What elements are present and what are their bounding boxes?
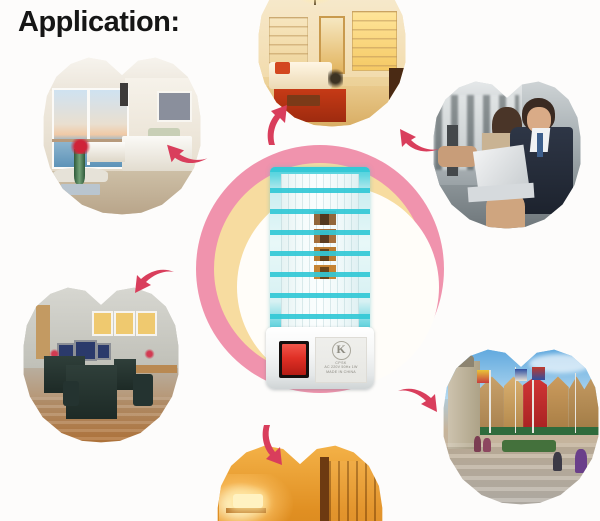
- house-red: [523, 376, 547, 430]
- scene-office-cubicles: [22, 286, 180, 444]
- shelf-right: [352, 11, 397, 71]
- person: [483, 438, 491, 452]
- flag: [532, 367, 545, 380]
- house: [547, 376, 569, 430]
- monument-top: [453, 354, 474, 367]
- red-flowers: [68, 139, 94, 153]
- gabled-houses: [480, 376, 600, 430]
- application-diagram: Application:: [0, 0, 600, 521]
- arrow-to-hotel-room-icon: [258, 424, 288, 466]
- horizontal-louvers: [270, 167, 370, 335]
- flag: [515, 369, 528, 382]
- office-chair: [63, 381, 79, 406]
- flagpole: [575, 373, 577, 433]
- chandelier: [293, 0, 338, 7]
- desk-flowers: [144, 349, 155, 358]
- arrow-to-business-travel-icon: [398, 122, 440, 156]
- planter-hedge: [502, 440, 556, 453]
- plant: [328, 65, 343, 92]
- speaker: [120, 83, 128, 105]
- spec-origin: MADE IN CHINA: [316, 370, 366, 375]
- framed-picture: [136, 311, 157, 336]
- lamp-base: K CPSK AC 220V 50Hz 1W MADE IN CHINA: [266, 327, 374, 389]
- lamp-housing: [270, 167, 370, 335]
- house: [504, 376, 523, 430]
- flag: [477, 370, 490, 383]
- necktie: [537, 133, 543, 157]
- arrow-to-town-square-icon: [397, 387, 439, 419]
- flagpole: [532, 370, 534, 433]
- vase: [74, 149, 85, 184]
- monitor: [96, 343, 111, 360]
- page-title: Application:: [18, 6, 180, 39]
- shelf-left: [269, 17, 308, 68]
- office-chair: [133, 374, 154, 406]
- person: [575, 449, 588, 473]
- scene-warm-lit-hotel-room: [216, 444, 384, 521]
- green-awnings: [480, 427, 600, 435]
- flagpole: [489, 370, 491, 433]
- lamp-bulb: [233, 494, 263, 507]
- dark-furniture: [389, 68, 407, 128]
- person: [474, 436, 482, 452]
- product-mosquito-killer-lamp: K CPSK AC 220V 50Hz 1W MADE IN CHINA: [266, 167, 374, 389]
- switch-red-paddle[interactable]: [282, 344, 306, 375]
- framed-art: [157, 91, 191, 122]
- scene-business-travel-laptop: [432, 80, 582, 230]
- product-spec-label: K CPSK AC 220V 50Hz 1W MADE IN CHINA: [315, 337, 367, 383]
- wood-panel: [329, 461, 384, 521]
- person: [553, 452, 562, 471]
- cushion: [275, 62, 290, 74]
- power-rocker-switch[interactable]: [279, 341, 309, 378]
- brand-logo-icon: K: [332, 341, 351, 360]
- wall-seam: [320, 457, 328, 521]
- house: [480, 376, 504, 430]
- framed-picture: [92, 311, 113, 336]
- arrow-to-living-room-icon: [263, 104, 293, 146]
- arrow-to-office-icon: [133, 268, 175, 300]
- magazine: [61, 184, 99, 195]
- arrow-to-bedroom-icon: [167, 133, 207, 167]
- scene-town-square-outdoor: [442, 348, 600, 506]
- framed-picture: [114, 311, 135, 336]
- wall-sconce: [226, 508, 266, 513]
- house: [569, 376, 600, 430]
